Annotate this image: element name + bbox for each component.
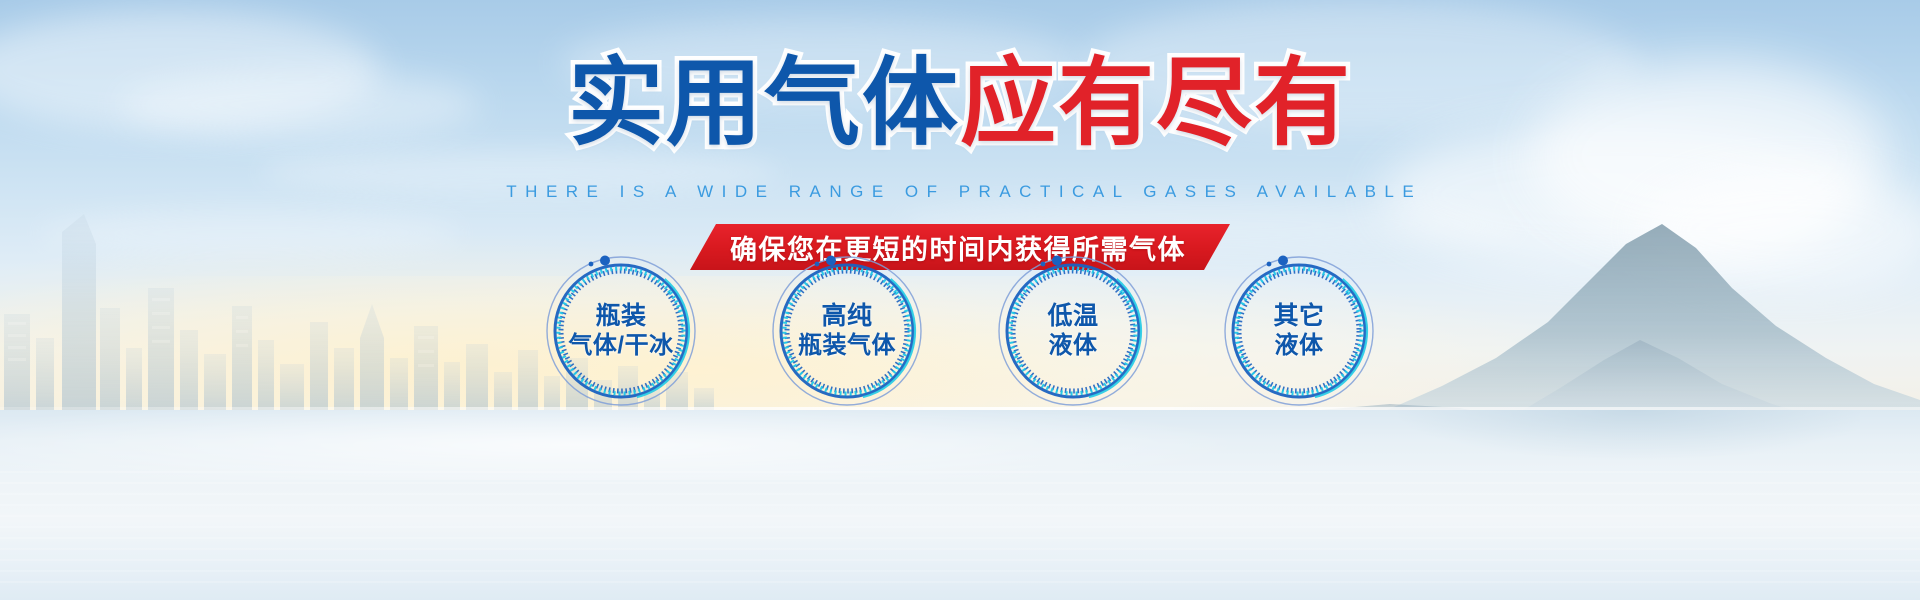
badge-label: 其它 液体 (1223, 255, 1375, 407)
headline-blue-text: 实用气体 (568, 50, 960, 157)
badge-label: 瓶装 气体/干冰 (545, 255, 697, 407)
banner-content: 实用气体应有尽有 THERE IS A WIDE RANGE OF PRACTI… (0, 0, 1920, 600)
banner-stage: 实用气体应有尽有 THERE IS A WIDE RANGE OF PRACTI… (0, 0, 1920, 600)
badge-label: 低温 液体 (997, 255, 1149, 407)
english-subtitle: THERE IS A WIDE RANGE OF PRACTICAL GASES… (0, 182, 1920, 202)
headline-red-text: 应有尽有 (960, 50, 1352, 157)
badge-row: 瓶装 气体/干冰 高纯 (0, 255, 1920, 415)
badge-cryogenic-liquid[interactable]: 低温 液体 (997, 255, 1149, 407)
badge-label-line1: 低温 (1047, 302, 1098, 332)
badge-label-line1: 其它 (1273, 302, 1324, 332)
badge-label-line1: 高纯 (821, 302, 872, 332)
badge-label-line2: 瓶装气体 (798, 332, 896, 360)
badge-bottled-gas-dry-ice[interactable]: 瓶装 气体/干冰 (545, 255, 697, 407)
headline: 实用气体应有尽有 (0, 56, 1920, 152)
badge-label-line2: 液体 (1275, 332, 1324, 360)
badge-high-purity-bottled-gas[interactable]: 高纯 瓶装气体 (771, 255, 923, 407)
badge-label-line2: 气体/干冰 (568, 332, 673, 360)
badge-other-liquid[interactable]: 其它 液体 (1223, 255, 1375, 407)
badge-label-line1: 瓶装 (595, 302, 646, 332)
badge-label-line2: 液体 (1049, 332, 1098, 360)
badge-label: 高纯 瓶装气体 (771, 255, 923, 407)
